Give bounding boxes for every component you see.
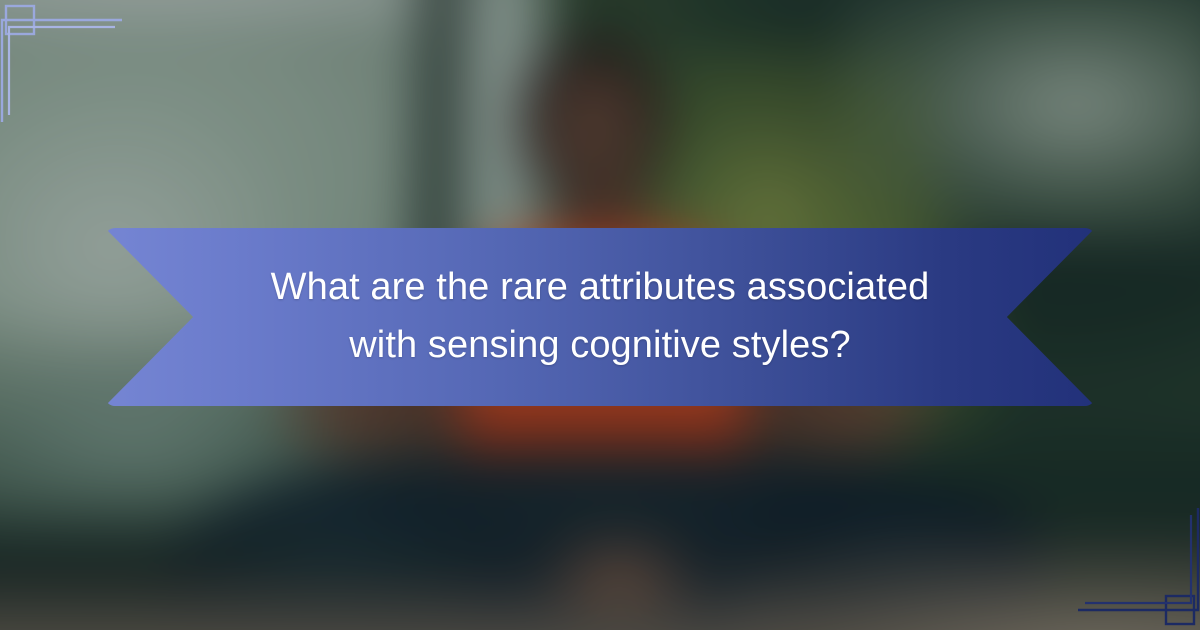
title-line-1: What are the rare attributes associated (271, 259, 930, 317)
title-text-block: What are the rare attributes associated … (105, 228, 1095, 406)
social-card: What are the rare attributes associated … (0, 0, 1200, 630)
title-line-2: with sensing cognitive styles? (349, 317, 850, 375)
